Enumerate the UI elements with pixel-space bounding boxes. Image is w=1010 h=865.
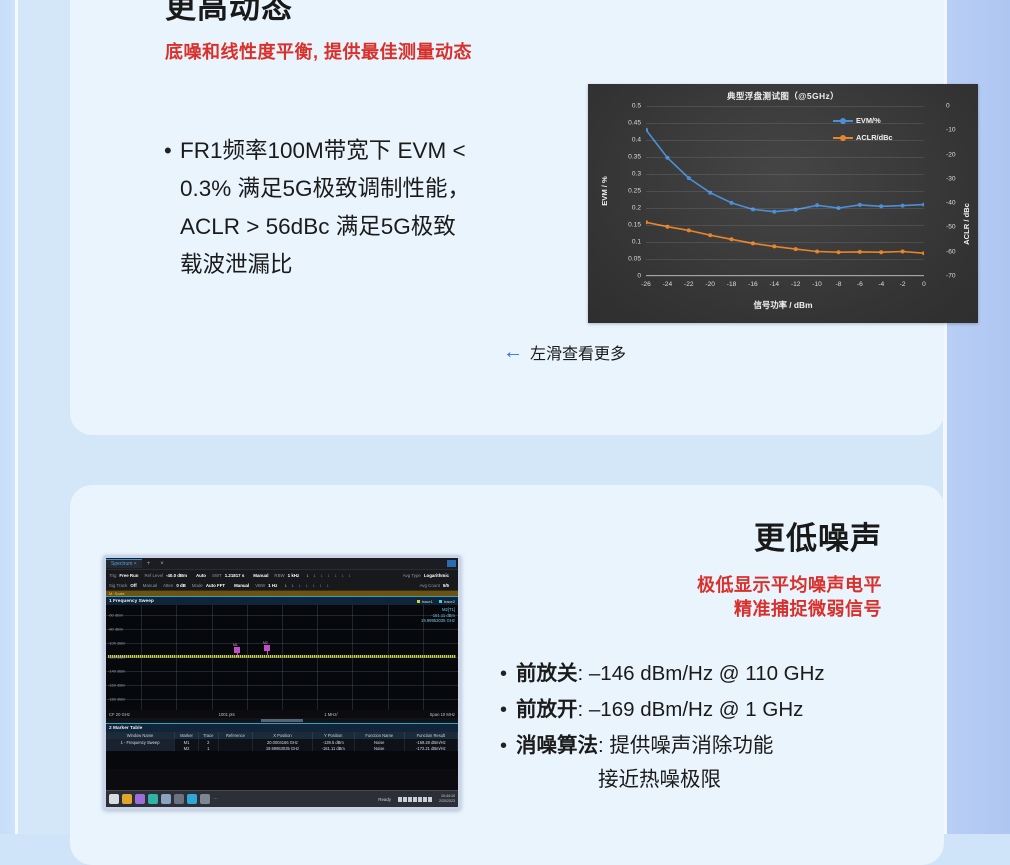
sa-marker-table-title: 2 Marker Table <box>109 726 142 731</box>
sa-param-value: 5/5 <box>443 583 449 588</box>
table-column-header: Function Result <box>404 732 457 739</box>
bullet-dot-icon: • <box>500 657 516 691</box>
chart-x-tick: -22 <box>684 281 694 288</box>
sa-param[interactable]: RBW1 kHz <box>274 573 299 578</box>
chart-y-tick: 0.2 <box>632 205 641 212</box>
bullet-dot-icon: • <box>500 693 516 727</box>
sa-param[interactable]: Avg Count5/5 <box>419 583 449 588</box>
chart-y2-tick: -20 <box>946 151 956 158</box>
chart-x-tick: -12 <box>791 281 801 288</box>
card-noise-subtitle-line1: 极低显示平均噪声电平 <box>697 573 882 597</box>
sa-grid-horizontal <box>106 629 458 630</box>
tab-spectrum[interactable]: Spectrum × <box>106 559 142 568</box>
sa-clock-date: 2/20/2023 <box>439 799 455 803</box>
spectrum-analyzer-screenshot: Spectrum × + × TrigFree RunRef Level-40.… <box>103 555 461 810</box>
sa-tab-bar: Spectrum × + × <box>106 558 458 570</box>
sa-param-value: Manual <box>253 573 268 578</box>
chart-data-point <box>922 251 924 255</box>
sa-param[interactable]: Auto <box>193 573 206 578</box>
folder-icon[interactable] <box>122 794 132 804</box>
chart-x-axis <box>646 275 924 276</box>
sa-param-value: 0 dB <box>176 583 186 588</box>
chart-gridline <box>646 174 924 175</box>
sa-param-key: Ref Level <box>144 573 163 578</box>
sa-trace1-label: trace1 <box>422 599 433 604</box>
chart-y2-tick: -50 <box>946 224 956 231</box>
sa-trace2-legend: trace2 <box>439 599 455 604</box>
sa-empty-area <box>106 751 458 769</box>
sa-param-key: RBW <box>274 573 284 578</box>
sa-marker-table-header: 2 Marker Table <box>106 723 458 732</box>
chart-gridline <box>646 157 924 158</box>
sa-status-text: M: Scale <box>109 591 125 596</box>
chart-y-tick: 0.15 <box>628 222 641 229</box>
sa-param-key: Atten <box>163 583 173 588</box>
chart-x-tick: -20 <box>705 281 715 288</box>
list-item: • FR1频率100M带宽下 EVM < 0.3% 满足5G极致调制性能， AC… <box>164 132 544 284</box>
sa-marker-readout-freq: 19.99953035 GHz <box>421 618 455 624</box>
chart-y2-axis-label: ACLR / dBc <box>962 203 971 245</box>
tab-spectrum-label: Spectrum <box>111 561 132 567</box>
sa-clock-time: 10:44:10 <box>441 794 455 798</box>
chart-series-line <box>646 130 924 212</box>
card-noise-subtitle-line2: 精准捕捉微弱信号 <box>697 597 882 621</box>
sa-trace-legend: trace1 trace2 <box>417 599 455 604</box>
chart-y-tick: 0 <box>637 273 641 280</box>
sa-trace-graph[interactable]: M1 M2 M2[T1] -161.11 dBm 19.99953035 GHz… <box>106 605 458 710</box>
bullet-line: ACLR > 56dBc 满足5G极致 <box>180 208 470 246</box>
chart-x-tick: -26 <box>641 281 651 288</box>
chart-y2-tick: -60 <box>946 248 956 255</box>
chart-data-point <box>708 233 712 237</box>
sa-param-key: Avg Count <box>419 583 439 588</box>
bullet-label: 前放关 <box>516 662 578 685</box>
sa-axis-cf: CF 20 GHz <box>109 712 130 717</box>
sa-axis-span: Span 10 MHz <box>430 712 455 717</box>
add-tab-button[interactable]: + <box>142 561 156 567</box>
sa-parameter-row-1: TrigFree RunRef Level-40.0 dBmAutoSWT1.2… <box>106 570 458 580</box>
table-column-header: Trace <box>198 732 218 739</box>
table-header-row: Window NameMarkerTraceReferenceX Positio… <box>106 732 458 739</box>
chart-data-point <box>687 176 691 180</box>
bullet-text: 前放关: –146 dBm/Hz @ 110 GHz <box>516 657 825 691</box>
chart-data-point <box>922 203 924 207</box>
sa-axis-step: 1 MHz/ <box>324 712 337 717</box>
close-tab-icon[interactable]: × <box>155 561 169 567</box>
bullet-dot-icon: • <box>164 132 180 170</box>
sa-param-value: Auto FFT <box>206 583 225 588</box>
sa-param[interactable]: TrigFree Run <box>109 573 138 578</box>
chart-series-line <box>646 222 924 253</box>
bullet-value: –146 dBm/Hz @ 110 GHz <box>589 662 825 685</box>
sa-trace-indicators: 1111111 <box>283 583 330 588</box>
card-noise-bullet-list: • 前放关: –146 dBm/Hz @ 110 GHz • 前放开: –169… <box>500 657 890 799</box>
sa-parameter-row-2: Sig TrackOffManualAtten0 dBModeAuto FFTM… <box>106 580 458 590</box>
sa-grid-horizontal <box>106 615 458 616</box>
sa-grid-horizontal <box>106 699 458 700</box>
arrow-left-icon: ← <box>503 342 523 362</box>
sa-param-key: Avg Type <box>403 573 421 578</box>
chart-y-tick: 0.25 <box>628 188 641 195</box>
chart-x-tick: 0 <box>922 281 926 288</box>
sa-axis-points: 1001 pts <box>219 712 235 717</box>
sa-clock: 10:44:10 2/20/2023 <box>439 794 455 804</box>
sa-axis-bar: CF 20 GHz 1001 pts 1 MHz/ Span 10 MHz <box>106 710 458 718</box>
chart-x-tick: -16 <box>748 281 758 288</box>
sa-horizontal-scrollbar[interactable] <box>106 718 458 723</box>
sa-marker-m1[interactable]: M1 <box>234 647 240 656</box>
chart-y-tick: 0.35 <box>628 154 641 161</box>
save-icon[interactable] <box>135 794 145 804</box>
page-left-gutter <box>0 0 15 834</box>
sa-marker-m2[interactable]: M2 <box>264 645 270 654</box>
chart-y-tick: 0.4 <box>632 137 641 144</box>
sa-param-key: SWT <box>212 573 222 578</box>
bullet-sep: : <box>578 698 584 721</box>
video-icon[interactable] <box>200 794 210 804</box>
chart-data-point <box>858 203 862 207</box>
more-icon[interactable]: ··· <box>213 796 218 802</box>
sa-grid-horizontal <box>106 685 458 686</box>
print-icon[interactable] <box>161 794 171 804</box>
chart-y2-tick: 0 <box>946 103 950 110</box>
sa-param-value: 1 kHz <box>288 573 299 578</box>
chart-data-point <box>837 250 841 254</box>
chart-x-tick: -10 <box>812 281 822 288</box>
card-dynamic-title: 更高动态 <box>165 0 293 26</box>
bullet-label: 前放开 <box>516 698 578 721</box>
chart-data-point <box>858 250 862 254</box>
table-column-header: Window Name <box>106 732 175 739</box>
sa-parameter-panel: TrigFree RunRef Level-40.0 dBmAutoSWT1.2… <box>106 570 458 591</box>
chart-x-tick: -2 <box>900 281 906 288</box>
sa-param[interactable]: SWT1.21817 s <box>212 573 244 578</box>
app-icon[interactable] <box>109 794 119 804</box>
sa-param[interactable]: Atten0 dB <box>163 583 186 588</box>
swipe-more-hint[interactable]: ← 左滑查看更多 <box>503 340 626 364</box>
chart-y-tick: 0.05 <box>628 256 641 263</box>
sa-param[interactable]: ModeAuto FFT <box>192 583 225 588</box>
chart-gridline <box>646 208 924 209</box>
sa-param-key: VBW <box>255 583 265 588</box>
sa-param-value: Auto <box>196 573 206 578</box>
card-noise-subtitle: 极低显示平均噪声电平 精准捕捉微弱信号 <box>697 573 882 622</box>
chart-x-tick: -6 <box>857 281 863 288</box>
table-column-header: Reference <box>218 732 253 739</box>
sa-param-key: Manual <box>143 583 157 588</box>
sa-param-value: -40.0 dBm <box>166 573 187 578</box>
chart-gridline <box>646 106 924 107</box>
card-dynamic-subtitle: 底噪和线性度平衡, 提供最佳测量动态 <box>165 40 472 64</box>
chart-data-point <box>730 201 734 205</box>
sa-trace1-legend: trace1 <box>417 599 433 604</box>
chart-plot-area: 0.50.450.40.350.30.250.20.150.10.0500-10… <box>646 106 924 276</box>
close-icon[interactable]: × <box>134 561 137 567</box>
bullet-line: FR1频率100M带宽下 EVM < <box>180 132 470 170</box>
bullet-sep: : <box>578 662 584 685</box>
sa-y-label: -140 dBm <box>108 669 125 674</box>
camera-icon[interactable] <box>148 794 158 804</box>
chart-y-tick: 0.45 <box>628 120 641 127</box>
chart-title: 典型浮盘测试图（@5GHz） <box>588 90 978 102</box>
chart-gridline <box>646 123 924 124</box>
sa-progress-indicator <box>398 797 432 802</box>
card-dynamic-bullet-list: • FR1频率100M带宽下 EVM < 0.3% 满足5G极致调制性能， AC… <box>164 132 544 284</box>
sa-param-value: Free Run <box>119 573 138 578</box>
sa-trace-indicators: 1111111 <box>305 573 352 578</box>
list-item: • 前放开: –169 dBm/Hz @ 1 GHz <box>500 693 890 727</box>
chart-x-tick: -18 <box>727 281 737 288</box>
bullet-text: 前放开: –169 dBm/Hz @ 1 GHz <box>516 693 803 727</box>
card-noise-title: 更低噪声 <box>754 521 882 557</box>
chart-gridline <box>646 276 924 277</box>
window-control-button[interactable] <box>447 560 456 567</box>
sa-param[interactable]: Ref Level-40.0 dBm <box>144 573 187 578</box>
chart-y-tick: 0.3 <box>632 171 641 178</box>
chart-data-point <box>901 250 905 254</box>
sa-window-header: 1 Frequency Sweep trace1 trace2 <box>106 596 458 605</box>
chart-data-point <box>815 250 819 254</box>
chart-x-tick: -8 <box>836 281 842 288</box>
bullet-line: 0.3% 满足5G极致调制性能， <box>180 170 470 208</box>
bullet-sep: : <box>598 734 604 757</box>
sa-param[interactable]: Manual <box>250 573 268 578</box>
evm-aclr-chart: 典型浮盘测试图（@5GHz） EVM / % ACLR / dBc 信号功率 /… <box>588 84 978 323</box>
sa-status-ready: Ready <box>378 797 391 802</box>
sa-marker-table: Window NameMarkerTraceReferenceX Positio… <box>106 732 458 751</box>
gear-icon[interactable] <box>187 794 197 804</box>
sa-taskbar: ··· Ready 10:44:10 2/20/2023 <box>106 790 458 807</box>
chart-x-tick: -14 <box>770 281 780 288</box>
card-lower-noise: 更低噪声 极低显示平均噪声电平 精准捕捉微弱信号 • 前放关: –146 dBm… <box>70 485 944 865</box>
chart-y-tick: 0.1 <box>632 239 641 246</box>
sa-param[interactable]: VBW1 Hz <box>255 583 277 588</box>
chart-data-point <box>772 210 776 214</box>
chart-x-axis-label: 信号功率 / dBm <box>588 299 978 311</box>
sa-param[interactable]: Manual <box>143 583 157 588</box>
sa-y-label: -180 dBm <box>108 697 125 702</box>
sa-y-label: -120 dBm <box>108 655 125 660</box>
link-icon[interactable] <box>174 794 184 804</box>
sa-grid-horizontal <box>106 657 458 658</box>
sa-param-value: Manual <box>234 583 249 588</box>
chart-data-point <box>879 250 883 254</box>
sa-y-label: -60 dBm <box>108 613 123 618</box>
sa-y-label: -80 dBm <box>108 627 123 632</box>
chart-y2-tick: -10 <box>946 127 956 134</box>
sa-param[interactable]: Avg TypeLogarithmic <box>403 573 449 578</box>
bullet-line: 载波泄漏比 <box>180 246 470 284</box>
bullet-dot-icon: • <box>500 729 516 763</box>
chart-y-tick: 0.5 <box>632 103 641 110</box>
chart-data-point <box>687 228 691 232</box>
sa-param-key: Trig <box>109 573 116 578</box>
bullet-value: 提供噪声消除功能 <box>609 734 773 757</box>
card-higher-dynamic: 更高动态 底噪和线性度平衡, 提供最佳测量动态 • FR1频率100M带宽下 E… <box>70 0 944 435</box>
bullet-label: 消噪算法 <box>516 734 598 757</box>
sa-param-value: Off <box>130 583 136 588</box>
table-column-header: Marker <box>175 732 199 739</box>
chart-gridline <box>646 140 924 141</box>
sa-y-label: -160 dBm <box>108 683 125 688</box>
table-column-header: Y Position <box>312 732 354 739</box>
sa-trace2-label: trace2 <box>444 599 455 604</box>
sa-window-title: 1 Frequency Sweep <box>109 599 154 604</box>
sa-param-value: 1 Hz <box>268 583 277 588</box>
chart-y2-tick: -70 <box>946 273 956 280</box>
chart-data-point <box>646 220 648 224</box>
chart-data-point <box>901 204 905 208</box>
sa-param-value: 1.21817 s <box>225 573 245 578</box>
chart-y2-tick: -30 <box>946 175 956 182</box>
chart-gridline <box>646 191 924 192</box>
list-item: • 前放关: –146 dBm/Hz @ 110 GHz <box>500 657 890 691</box>
chart-gridline <box>646 259 924 260</box>
list-item: • 消噪算法: 提供噪声消除功能 接近热噪极限 <box>500 729 890 797</box>
chart-data-point <box>815 203 819 207</box>
table-body: 1 - Frequency SweepM1220.0004166 GHz-139… <box>106 739 458 751</box>
chart-x-tick: -24 <box>663 281 673 288</box>
chart-data-point <box>794 247 798 251</box>
chart-gridline <box>646 242 924 243</box>
chart-y-axis-label: EVM / % <box>600 176 609 206</box>
bullet-continuation: 接近热噪极限 <box>516 763 773 797</box>
sa-param-key: Sig Track <box>109 583 127 588</box>
sa-param[interactable]: Sig TrackOff <box>109 583 137 588</box>
sa-param[interactable]: Manual <box>231 583 249 588</box>
sa-y-label: -100 dBm <box>108 641 125 646</box>
chart-data-point <box>772 244 776 248</box>
chart-gridline <box>646 225 924 226</box>
table-column-header: X Position <box>253 732 313 739</box>
sa-param-key: Mode <box>192 583 203 588</box>
sa-grid-horizontal <box>106 643 458 644</box>
bullet-value: –169 dBm/Hz @ 1 GHz <box>589 698 804 721</box>
chart-y2-tick: -40 <box>946 200 956 207</box>
chart-x-tick: -4 <box>878 281 884 288</box>
table-column-header: Function Name <box>354 732 404 739</box>
sa-grid-horizontal <box>106 671 458 672</box>
chart-data-point <box>730 237 734 241</box>
swipe-more-label: 左滑查看更多 <box>530 340 626 364</box>
bullet-text: 消噪算法: 提供噪声消除功能 <box>516 729 773 763</box>
sa-param-value: Logarithmic <box>424 573 449 578</box>
